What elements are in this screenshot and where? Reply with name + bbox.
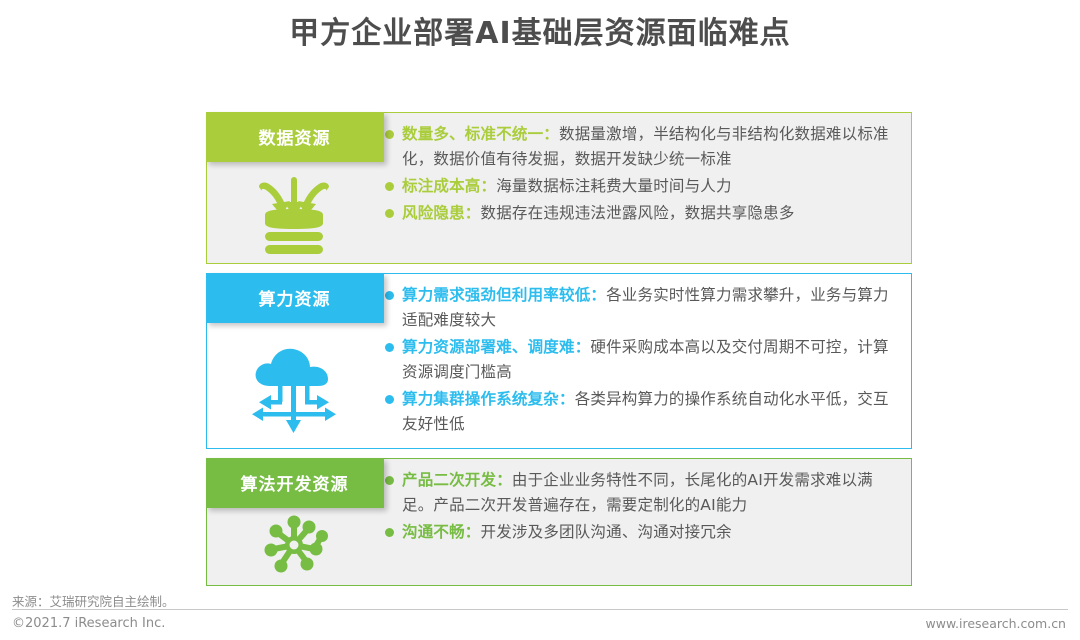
bullet-text: 产品二次开发：由于企业业务特性不同，长尾化的AI开发需求难以满足。产品二次开发普… (402, 468, 901, 518)
section-tab-computing-resource[interactable]: 算力资源 (206, 273, 384, 323)
bullet-dot-icon (385, 182, 394, 191)
database-import-icon (251, 171, 337, 259)
bullet-dot-icon (385, 343, 394, 352)
footer-divider (12, 609, 1068, 610)
website-link[interactable]: www.iresearch.com.cn (926, 616, 1067, 631)
bullet-text: 算力资源部署难、调度难：硬件采购成本高以及交付周期不可控，计算资源调度门槛高 (402, 335, 901, 385)
section-icon-box (207, 334, 381, 446)
copyright-text: ©2021.7 iResearch Inc. (12, 616, 165, 631)
bullet-dot-icon (385, 395, 394, 404)
section-tab-label: 算法开发资源 (241, 470, 349, 495)
bullet-item: 算力资源部署难、调度难：硬件采购成本高以及交付周期不可控，计算资源调度门槛高 (385, 335, 901, 385)
section-card-algorithm-resource: 算法开发资源 (206, 458, 912, 586)
bullet-item: 产品二次开发：由于企业业务特性不同，长尾化的AI开发需求难以满足。产品二次开发普… (385, 468, 901, 518)
bullet-heading: 算力集群操作系统复杂： (402, 390, 575, 408)
section-bullets: 算力需求强劲但利用率较低：各业务实时性算力需求攀升，业务与算力适配难度较大 算力… (381, 274, 911, 448)
bullet-heading: 产品二次开发： (402, 471, 512, 489)
bullet-heading: 算力资源部署难、调度难： (402, 338, 590, 356)
cloud-distribution-icon (246, 342, 342, 438)
bullet-dot-icon (385, 476, 394, 485)
bullet-text: 算力集群操作系统复杂：各类异构算力的操作系统自动化水平低，交互友好性低 (402, 387, 901, 437)
bullet-dot-icon (385, 130, 394, 139)
bullet-body: 开发涉及多团队沟通、沟通对接冗余 (481, 523, 732, 541)
bullet-heading: 沟通不畅： (402, 523, 481, 541)
section-card-data-resource: 数据资源 (206, 112, 912, 264)
bullet-heading: 数量多、标准不统一： (402, 125, 559, 143)
section-left-column: 算法开发资源 (207, 459, 381, 585)
bullet-dot-icon (385, 209, 394, 218)
section-bullets: 数量多、标准不统一：数据量激增，半结构化与非结构化数据难以标准化，数据价值有待发… (381, 113, 911, 263)
section-bullets: 产品二次开发：由于企业业务特性不同，长尾化的AI开发需求难以满足。产品二次开发普… (381, 459, 911, 585)
bullet-item: 沟通不畅：开发涉及多团队沟通、沟通对接冗余 (385, 520, 901, 545)
section-left-column: 算力资源 (207, 274, 381, 448)
sections-container: 数据资源 (206, 112, 912, 595)
section-left-column: 数据资源 (207, 113, 381, 263)
molecule-network-icon (258, 511, 330, 583)
bullet-dot-icon (385, 528, 394, 537)
bullet-text: 数量多、标准不统一：数据量激增，半结构化与非结构化数据难以标准化，数据价值有待发… (402, 122, 901, 172)
bullet-item: 数量多、标准不统一：数据量激增，半结构化与非结构化数据难以标准化，数据价值有待发… (385, 122, 901, 172)
bullet-heading: 算力需求强劲但利用率较低： (402, 286, 606, 304)
section-card-computing-resource: 算力资源 (206, 273, 912, 449)
section-icon-box (207, 169, 381, 261)
bullet-text: 标注成本高：海量数据标注耗费大量时间与人力 (402, 174, 732, 199)
section-tab-data-resource[interactable]: 数据资源 (206, 112, 384, 162)
bullet-body: 海量数据标注耗费大量时间与人力 (496, 177, 732, 195)
bullet-text: 算力需求强劲但利用率较低：各业务实时性算力需求攀升，业务与算力适配难度较大 (402, 283, 901, 333)
bullet-heading: 标注成本高： (402, 177, 496, 195)
bullet-item: 标注成本高：海量数据标注耗费大量时间与人力 (385, 174, 901, 199)
page-title: 甲方企业部署AI基础层资源面临难点 (0, 14, 1080, 54)
section-icon-box (207, 509, 381, 585)
bullet-item: 风险隐患：数据存在违规违法泄露风险，数据共享隐患多 (385, 201, 901, 226)
bullet-dot-icon (385, 291, 394, 300)
bullet-text: 风险隐患：数据存在违规违法泄露风险，数据共享隐患多 (402, 201, 795, 226)
bullet-body: 数据存在违规违法泄露风险，数据共享隐患多 (481, 204, 795, 222)
source-note: 来源：艾瑞研究院自主绘制。 (12, 591, 175, 610)
section-tab-label: 算力资源 (259, 285, 331, 310)
bullet-text: 沟通不畅：开发涉及多团队沟通、沟通对接冗余 (402, 520, 732, 545)
section-tab-algorithm-resource[interactable]: 算法开发资源 (206, 458, 384, 508)
bullet-heading: 风险隐患： (402, 204, 481, 222)
section-tab-label: 数据资源 (259, 124, 331, 149)
bullet-item: 算力需求强劲但利用率较低：各业务实时性算力需求攀升，业务与算力适配难度较大 (385, 283, 901, 333)
bullet-item: 算力集群操作系统复杂：各类异构算力的操作系统自动化水平低，交互友好性低 (385, 387, 901, 437)
